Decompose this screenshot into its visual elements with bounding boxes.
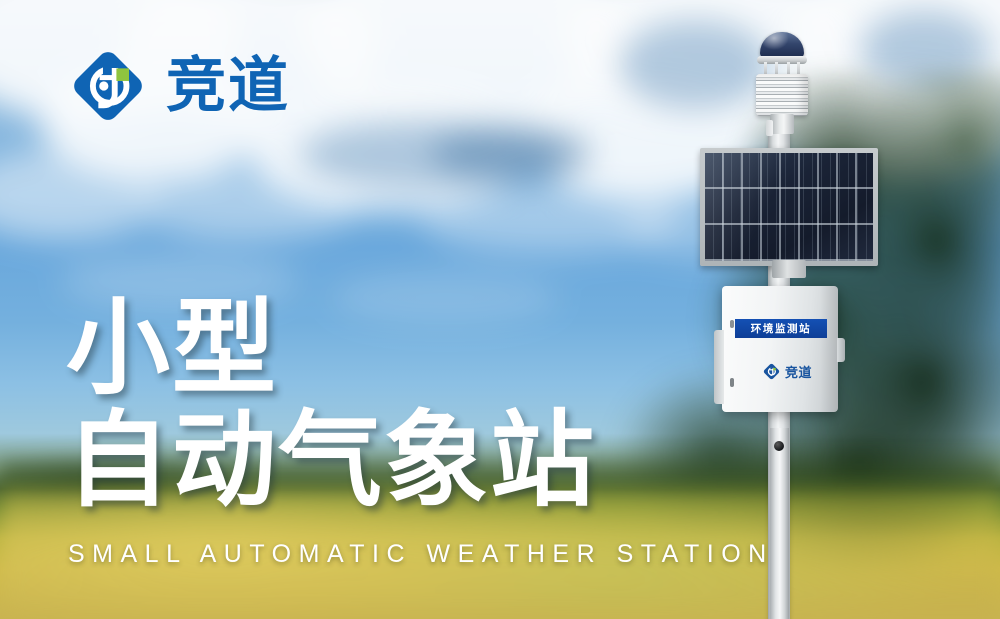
mast-bolt [774,441,784,451]
control-box-brand-logo: 竞道 [762,362,812,381]
jingdao-diamond-logo-icon [66,44,150,128]
control-box-brand-name: 竞道 [785,362,812,381]
sensor-dome [760,32,804,58]
brand-logo[interactable]: 竞道 [66,44,290,128]
page-subtitle: SMALL AUTOMATIC WEATHER STATION [68,539,774,569]
weather-station-product: 环境监测站 竞道 [700,28,900,619]
control-box-tab [837,338,845,362]
ultrasonic-weather-sensor-icon [738,28,824,136]
solar-panel-bracket [772,260,806,278]
product-banner: 竞道 小型 自动气象站 SMALL AUTOMATIC WEATHER STAT… [0,0,1000,619]
solar-panel-icon [700,148,878,266]
control-box-icon: 环境监测站 竞道 [722,286,838,412]
jingdao-diamond-logo-icon-small [762,362,781,381]
mast-pole-lower [770,428,789,619]
control-box-screw-bottom [730,378,734,387]
sensor-neck [770,114,794,134]
control-box-lip [714,330,724,404]
title-line-2: 自动气象站 [66,404,596,516]
title-line-1: 小型 [66,292,596,404]
control-box-label-band: 环境监测站 [735,319,827,338]
sensor-clip [766,120,773,136]
control-box-label: 环境监测站 [751,321,812,336]
solar-panel-cells [705,153,873,261]
page-title: 小型 自动气象站 [66,292,596,516]
radiation-shield [756,74,808,116]
control-box-screw-top [730,320,734,328]
brand-name: 竞道 [166,56,290,116]
